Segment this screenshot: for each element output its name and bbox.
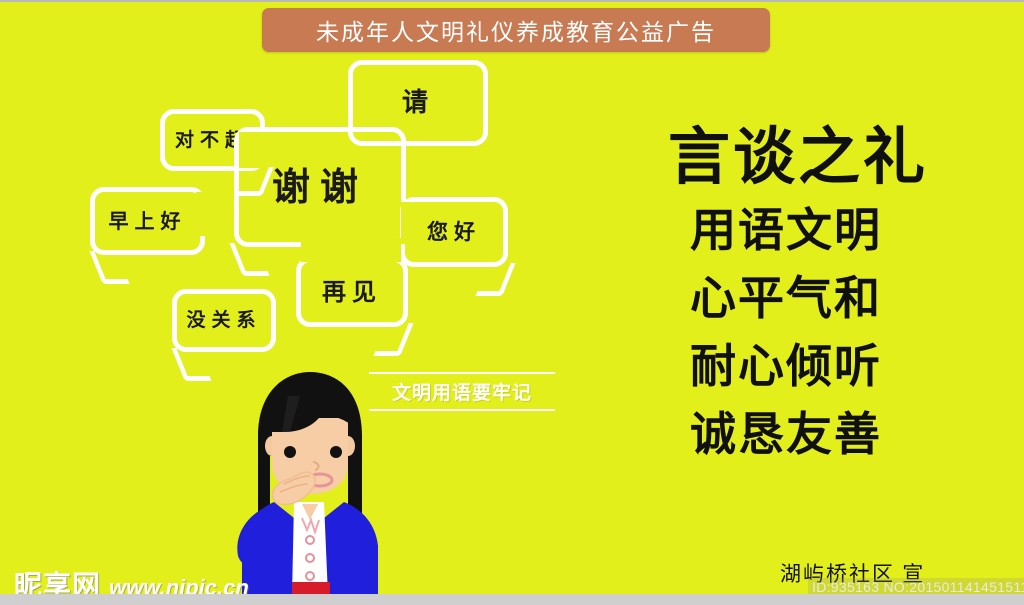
- virtue-line-1: 用语文明: [690, 207, 990, 253]
- bottom-strip: [0, 594, 1024, 605]
- slogan-text: 文明用语要牢记: [392, 382, 532, 404]
- bubble-zaijian-tail: [373, 323, 413, 356]
- eye-right-shape: [330, 446, 342, 458]
- page-title: 言谈之礼: [668, 126, 928, 188]
- bubble-overlap-patch-3: [301, 238, 401, 262]
- virtue-line-2: 心平气和: [690, 275, 990, 321]
- bubble-zaijian-label: 再见: [322, 280, 382, 304]
- bubble-xiexie-label: 谢谢: [272, 168, 368, 206]
- virtue-line-3: 耐心倾听: [690, 343, 990, 389]
- bubble-meiguanxi-tail: [171, 348, 211, 381]
- bubble-ninhao-tail: [475, 263, 515, 296]
- poster-title: 未成年人文明礼仪养成教育公益广告: [316, 13, 716, 47]
- poster-canvas: 未成年人文明礼仪养成教育公益广告 请 对不起 谢谢 早上好 您好 再见 没关系 …: [0, 0, 1024, 605]
- eye-left-shape: [284, 446, 296, 458]
- virtue-line-4: 诚恳友善: [690, 411, 990, 457]
- bubble-zaijian: 再见: [296, 257, 408, 327]
- bubble-ninhao-label: 您好: [427, 222, 481, 243]
- bubble-xiexie-tail: [229, 243, 269, 276]
- girl-illustration: [222, 370, 397, 596]
- bubble-qing-label: 请: [402, 90, 434, 116]
- virtue-list: 用语文明 心平气和 耐心倾听 诚恳友善: [690, 207, 990, 479]
- title-banner: 未成年人文明礼仪养成教育公益广告: [262, 8, 770, 52]
- bubble-meiguanxi-label: 没关系: [186, 311, 261, 330]
- bubble-overlap-patch-2: [401, 202, 411, 244]
- bubble-zaoshanghao-tail: [89, 251, 129, 284]
- bubble-overlap-patch-1: [239, 132, 265, 168]
- bubble-meiguanxi: 没关系: [172, 289, 276, 352]
- bubble-ninhao: 您好: [400, 197, 508, 267]
- bubble-overlap-patch-4: [196, 192, 206, 236]
- bubble-zaoshanghao-label: 早上好: [109, 211, 187, 231]
- bubble-zaoshanghao: 早上好: [90, 187, 205, 255]
